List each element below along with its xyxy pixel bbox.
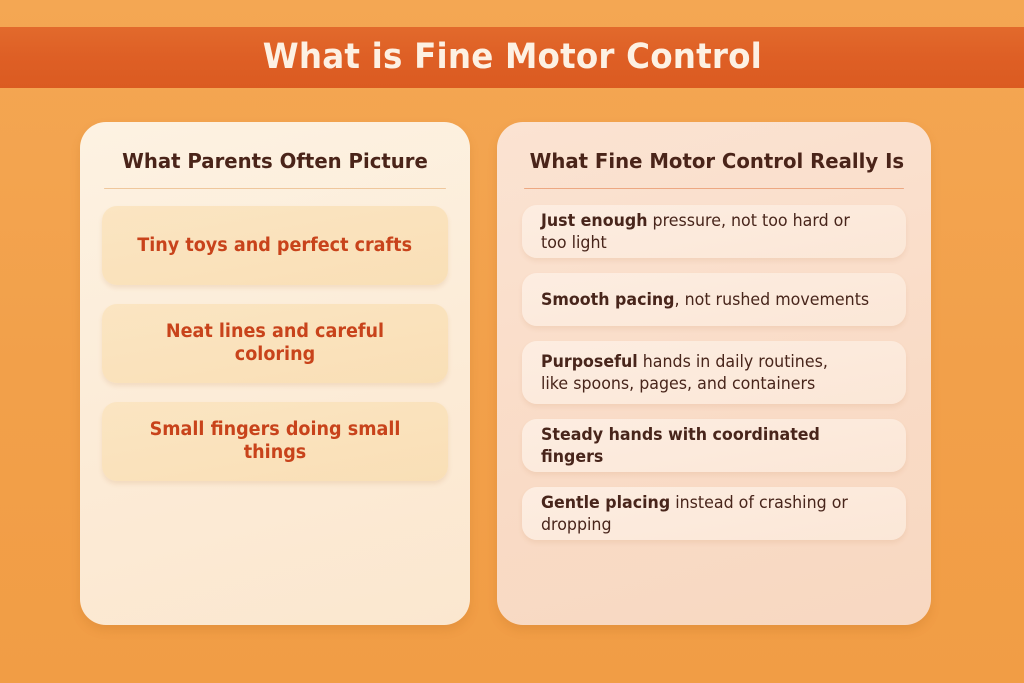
list-item-lead: Steady hands with coordinated fingers [541, 425, 820, 466]
list-item-label: Smooth pacing, not rushed movements [541, 289, 869, 311]
list-item: Small fingers doing small things [102, 402, 448, 481]
list-item-rest: like spoons, pages, and containers [541, 374, 815, 393]
list-item-label: Purposeful hands in daily routines,like … [541, 351, 828, 395]
right-card-divider [524, 188, 904, 190]
page-title: What is Fine Motor Control [262, 40, 761, 75]
header-banner: What is Fine Motor Control [0, 27, 1024, 88]
list-item-lead: Smooth pacing [541, 290, 675, 309]
list-item-label: Tiny toys and perfect crafts [138, 235, 413, 257]
right-card-heading: What Fine Motor Control Really Is [530, 144, 899, 174]
list-item-lead: Gentle placing [541, 493, 670, 512]
list-item-label: Gentle placing instead of crashing or dr… [541, 492, 873, 536]
list-item-rest: , not rushed movements [675, 290, 870, 309]
list-item-label: Small fingers doing small things [124, 419, 426, 463]
left-card-list: Tiny toys and perfect craftsNeat lines a… [102, 206, 448, 481]
list-item: Gentle placing instead of crashing or dr… [522, 487, 906, 540]
right-card-list: Just enough pressure, not too hard or to… [522, 205, 906, 540]
list-item-label: Steady hands with coordinated fingers [541, 424, 873, 468]
list-item: Purposeful hands in daily routines,like … [522, 341, 906, 404]
list-item: Neat lines and careful coloring [102, 304, 448, 383]
list-item: Tiny toys and perfect crafts [102, 206, 448, 285]
list-item-rest: hands in daily routines, [638, 352, 828, 371]
list-item: Just enough pressure, not too hard or to… [522, 205, 906, 258]
list-item-lead: Just enough [541, 211, 647, 230]
card-parents-picture: What Parents Often Picture Tiny toys and… [80, 122, 470, 625]
infographic-poster: What is Fine Motor Control What Parents … [0, 0, 1024, 683]
list-item: Smooth pacing, not rushed movements [522, 273, 906, 326]
left-card-heading: What Parents Often Picture [109, 144, 441, 174]
cards-row: What Parents Often Picture Tiny toys and… [0, 122, 1024, 632]
list-item-lead: Purposeful [541, 352, 638, 371]
list-item-label: Neat lines and careful coloring [124, 321, 426, 365]
list-item-label: Just enough pressure, not too hard or to… [541, 210, 873, 254]
card-really-is: What Fine Motor Control Really Is Just e… [497, 122, 931, 625]
list-item: Steady hands with coordinated fingers [522, 419, 906, 472]
left-card-divider [104, 188, 446, 190]
